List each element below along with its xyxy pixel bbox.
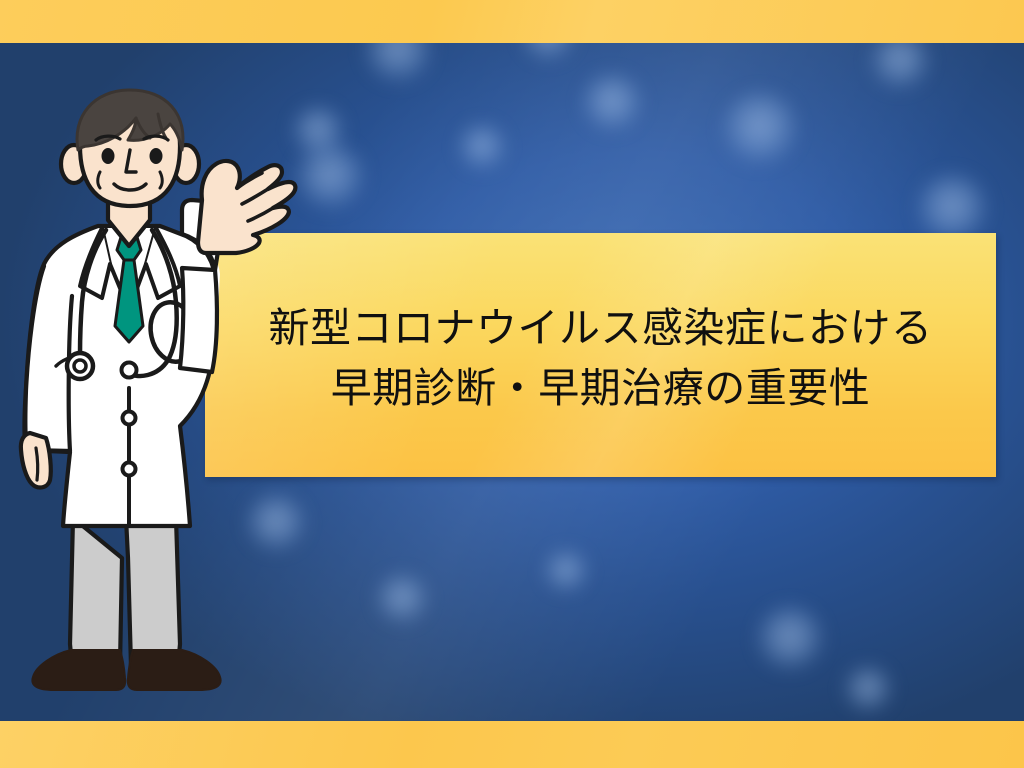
left-hand — [21, 433, 51, 487]
title-line-1: 新型コロナウイルス感染症における — [205, 301, 996, 356]
bottom-yellow-band — [0, 721, 1024, 768]
doctor-illustration — [10, 88, 310, 700]
slide-canvas: 新型コロナウイルス感染症における 早期診断・早期治療の重要性 — [0, 0, 1024, 768]
shoes — [32, 650, 220, 690]
trousers — [70, 518, 180, 666]
title-card: 新型コロナウイルス感染症における 早期診断・早期治療の重要性 — [205, 233, 996, 477]
top-yellow-band — [0, 0, 1024, 43]
page-title: 新型コロナウイルス感染症における 早期診断・早期治療の重要性 — [205, 301, 996, 416]
title-line-2: 早期診断・早期治療の重要性 — [205, 361, 996, 416]
raised-hand — [198, 161, 295, 253]
necktie — [115, 234, 143, 342]
